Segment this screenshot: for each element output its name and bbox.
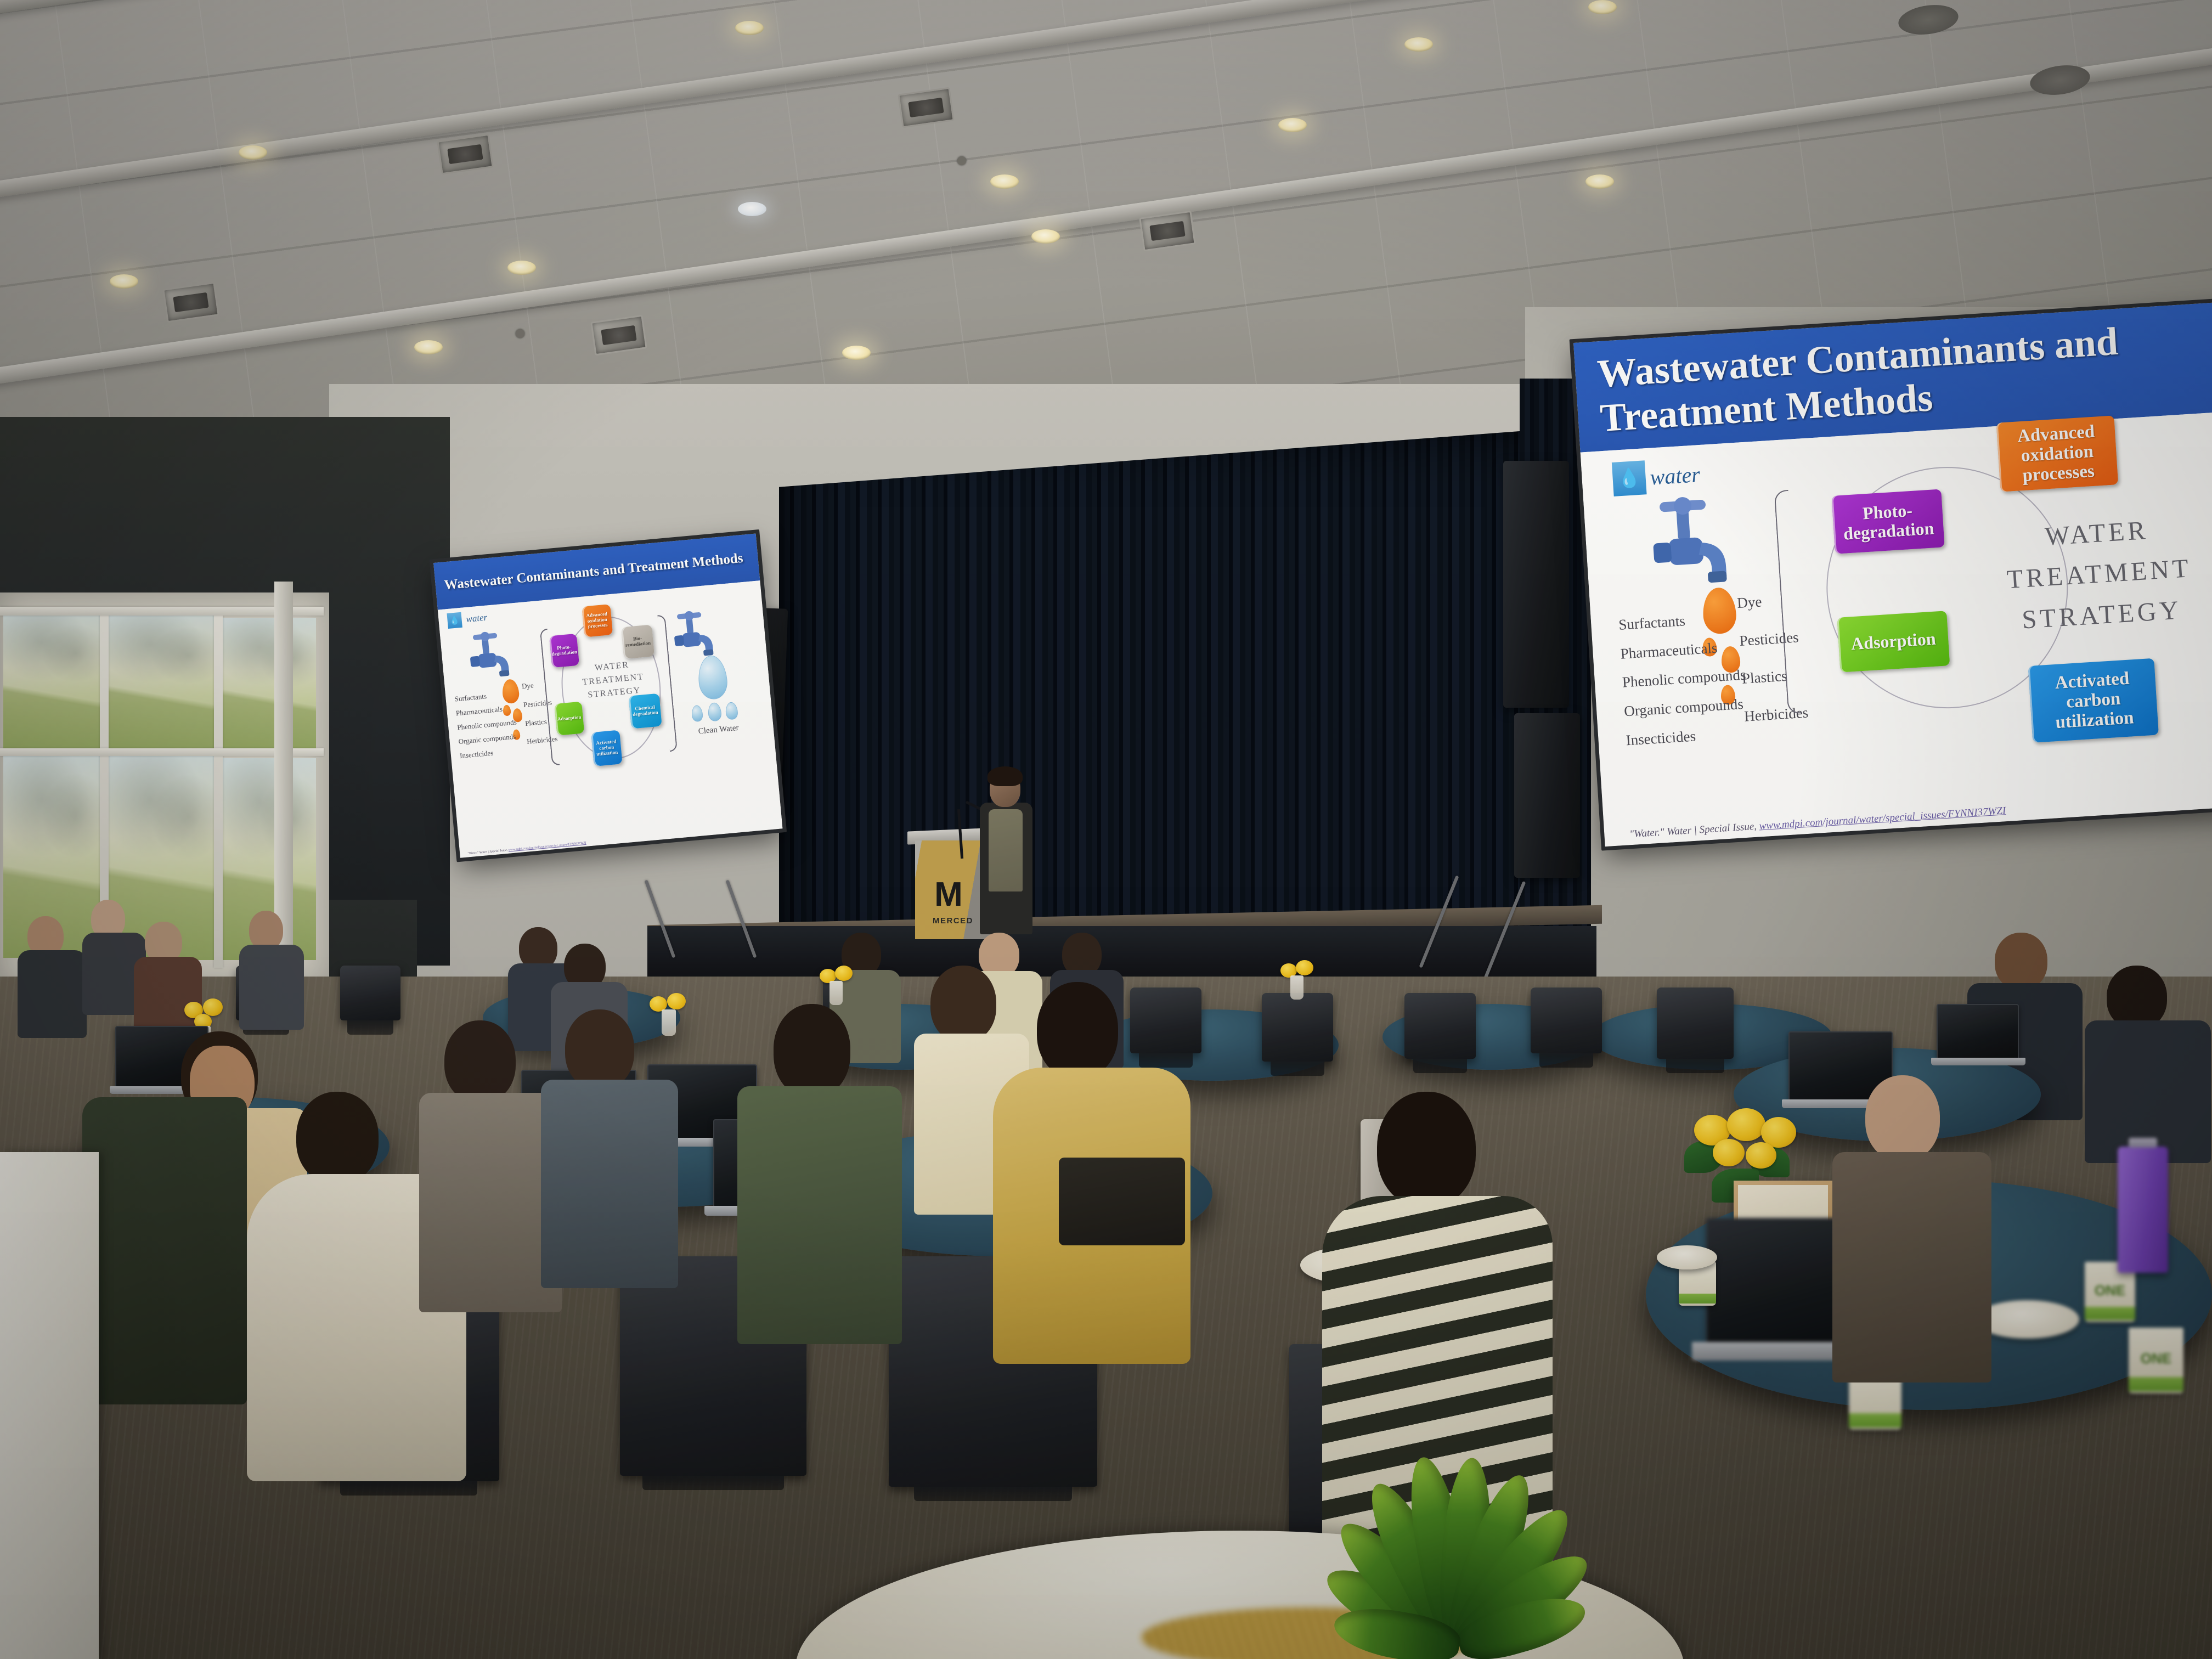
cup-green-band — [2129, 1377, 2183, 1391]
center-strategy-label: WATER TREATMENT STRATEGY — [1980, 506, 2212, 643]
head — [565, 1009, 634, 1090]
foreground-plant — [1212, 1317, 1706, 1659]
head — [1995, 933, 2047, 990]
ceiling-downlight — [110, 274, 138, 289]
journal-badge-label: water — [466, 612, 488, 625]
jacket-on-chair — [82, 1097, 247, 1404]
chrysanthemum — [1746, 1142, 1776, 1169]
node-bio-remediation: Bio-remediation — [621, 624, 654, 659]
node-adsorption: Adsorption — [1837, 611, 1950, 672]
node-chemical-degradation: Chemical degradation — [628, 693, 662, 729]
hvac-diffuser — [1139, 211, 1196, 252]
clean-water-droplet — [707, 702, 722, 722]
node-advanced-oxidation: Advanced oxidation processes — [1996, 415, 2118, 492]
water-drop-icon: 💧 — [447, 612, 462, 629]
window-mullion — [214, 611, 223, 968]
cup-green-band — [1679, 1294, 1716, 1304]
ceiling-downlight — [414, 340, 443, 354]
sprinkler-head — [516, 329, 524, 338]
torso — [541, 1080, 678, 1288]
citation-prefix: "Water." Water | Special Issue, — [1629, 820, 1760, 840]
conference-room-photo: M MERCED Wastewater Contaminants and Tre… — [0, 0, 2212, 1659]
hvac-diffuser — [590, 315, 647, 356]
stage-curtain — [779, 428, 1564, 966]
faucet-icon — [1643, 487, 1748, 597]
head — [774, 1004, 850, 1097]
clean-water-label: Clean Water — [685, 723, 752, 738]
bottle-cap — [2129, 1138, 2157, 1148]
slide-side: Wastewater Contaminants and Treatment Me… — [433, 534, 783, 858]
presenter-vest — [989, 809, 1023, 891]
slide-body: 💧 water — [438, 580, 783, 858]
cup-green-band — [2085, 1307, 2135, 1320]
head — [296, 1092, 379, 1184]
hvac-diffuser — [162, 282, 219, 323]
ceiling-downlight — [735, 21, 764, 35]
ceiling-downlight — [507, 261, 536, 275]
vase — [662, 1009, 676, 1036]
journal-badge-label: water — [1649, 461, 1701, 490]
chrysanthemum — [667, 993, 686, 1009]
head — [2107, 966, 2167, 1029]
faucet-icon-dirty — [464, 626, 521, 685]
draped-table-cloth — [0, 1152, 99, 1659]
contaminants-left-list: Surfactants Pharmaceuticals Phenolic com… — [1618, 603, 1751, 755]
laptop-base — [1931, 1058, 2025, 1065]
water-drop-icon: 💧 — [1612, 460, 1647, 496]
torso — [1832, 1152, 1991, 1383]
clean-water-droplet — [725, 702, 738, 720]
chair — [1404, 993, 1476, 1059]
torso — [419, 1093, 562, 1312]
head — [1037, 982, 1118, 1079]
sprinkler-head — [957, 156, 966, 165]
torso — [18, 950, 87, 1038]
flower-centerpiece — [1278, 960, 1339, 1020]
head — [930, 966, 996, 1042]
cup-green-band — [1849, 1413, 1901, 1427]
ceiling-downlight — [1404, 37, 1433, 52]
node-activated-carbon: Activated carbon utilization — [591, 730, 622, 766]
faucet-icon-clean — [668, 605, 726, 664]
vest-inner-sleeve — [1059, 1158, 1185, 1245]
presenter — [975, 771, 1036, 935]
node-advanced-oxidation: Advanced oxidation processes — [582, 604, 613, 637]
ceiling-downlight — [1588, 0, 1617, 14]
water-bottle — [2118, 1147, 2168, 1273]
ceiling-speaker-cabinet — [1514, 713, 1580, 878]
slide-main: Wastewater Contaminants and Treatment Me… — [1573, 301, 2212, 847]
window-pane — [108, 614, 215, 751]
ceiling-downlight — [239, 145, 267, 160]
hvac-diffuser — [898, 87, 955, 128]
chair — [340, 966, 400, 1020]
node-photo-degradation: Photo-degradation — [549, 634, 579, 668]
ceiling-speaker-cabinet — [1503, 461, 1569, 708]
flower-centerpiece — [647, 993, 708, 1053]
uc-merced-m-logo: M — [928, 874, 969, 915]
clean-water-droplet — [691, 705, 704, 723]
ceiling-downlight — [738, 202, 766, 216]
torso — [239, 945, 304, 1030]
contaminants-left-list: Surfactants Pharmaceuticals Phenolic com… — [454, 687, 520, 763]
chair — [1657, 988, 1734, 1059]
window-pane — [3, 612, 100, 749]
node-photo-degradation: Photo-degradation — [1831, 489, 1944, 554]
ceiling-downlight — [1031, 229, 1060, 244]
slide-body: 💧 water — [1581, 410, 2212, 847]
chrysanthemum — [203, 998, 223, 1016]
presenter-hair — [988, 766, 1023, 786]
chair — [1531, 988, 1602, 1053]
ceiling-downlight — [1278, 118, 1307, 132]
node-adsorption: Adsorption — [554, 702, 584, 736]
ceiling-downlight — [1585, 174, 1614, 189]
journal-badge: 💧 water — [447, 610, 488, 629]
head — [1865, 1075, 1940, 1161]
paper-plate — [1657, 1245, 1717, 1269]
chair — [1130, 988, 1201, 1053]
chrysanthemum — [835, 966, 853, 981]
head — [444, 1020, 516, 1103]
center-strategy-label: WATER TREATMENT STRATEGY — [571, 657, 656, 703]
ceiling-downlight — [842, 346, 871, 360]
laptop-screen — [1937, 1004, 2019, 1059]
head — [1377, 1092, 1476, 1207]
chrysanthemum — [1713, 1139, 1745, 1166]
chrysanthemum — [1296, 960, 1313, 975]
chrysanthemum — [1727, 1108, 1765, 1141]
side-projection-screen: Wastewater Contaminants and Treatment Me… — [433, 534, 783, 858]
vase — [1290, 975, 1304, 1000]
hvac-diffuser — [437, 134, 494, 175]
main-projection-screen: Wastewater Contaminants and Treatment Me… — [1573, 301, 2212, 847]
window-pane — [222, 618, 316, 753]
cup-brand-label: ONE — [2085, 1282, 2135, 1299]
cup-brand-label: ONE — [2129, 1350, 2183, 1367]
ceiling-downlight — [990, 174, 1019, 189]
vase — [830, 981, 843, 1005]
node-activated-carbon: Activated carbon utilization — [2028, 658, 2159, 743]
paper-cup: ONE — [2129, 1328, 2183, 1393]
hoodie — [737, 1086, 902, 1344]
